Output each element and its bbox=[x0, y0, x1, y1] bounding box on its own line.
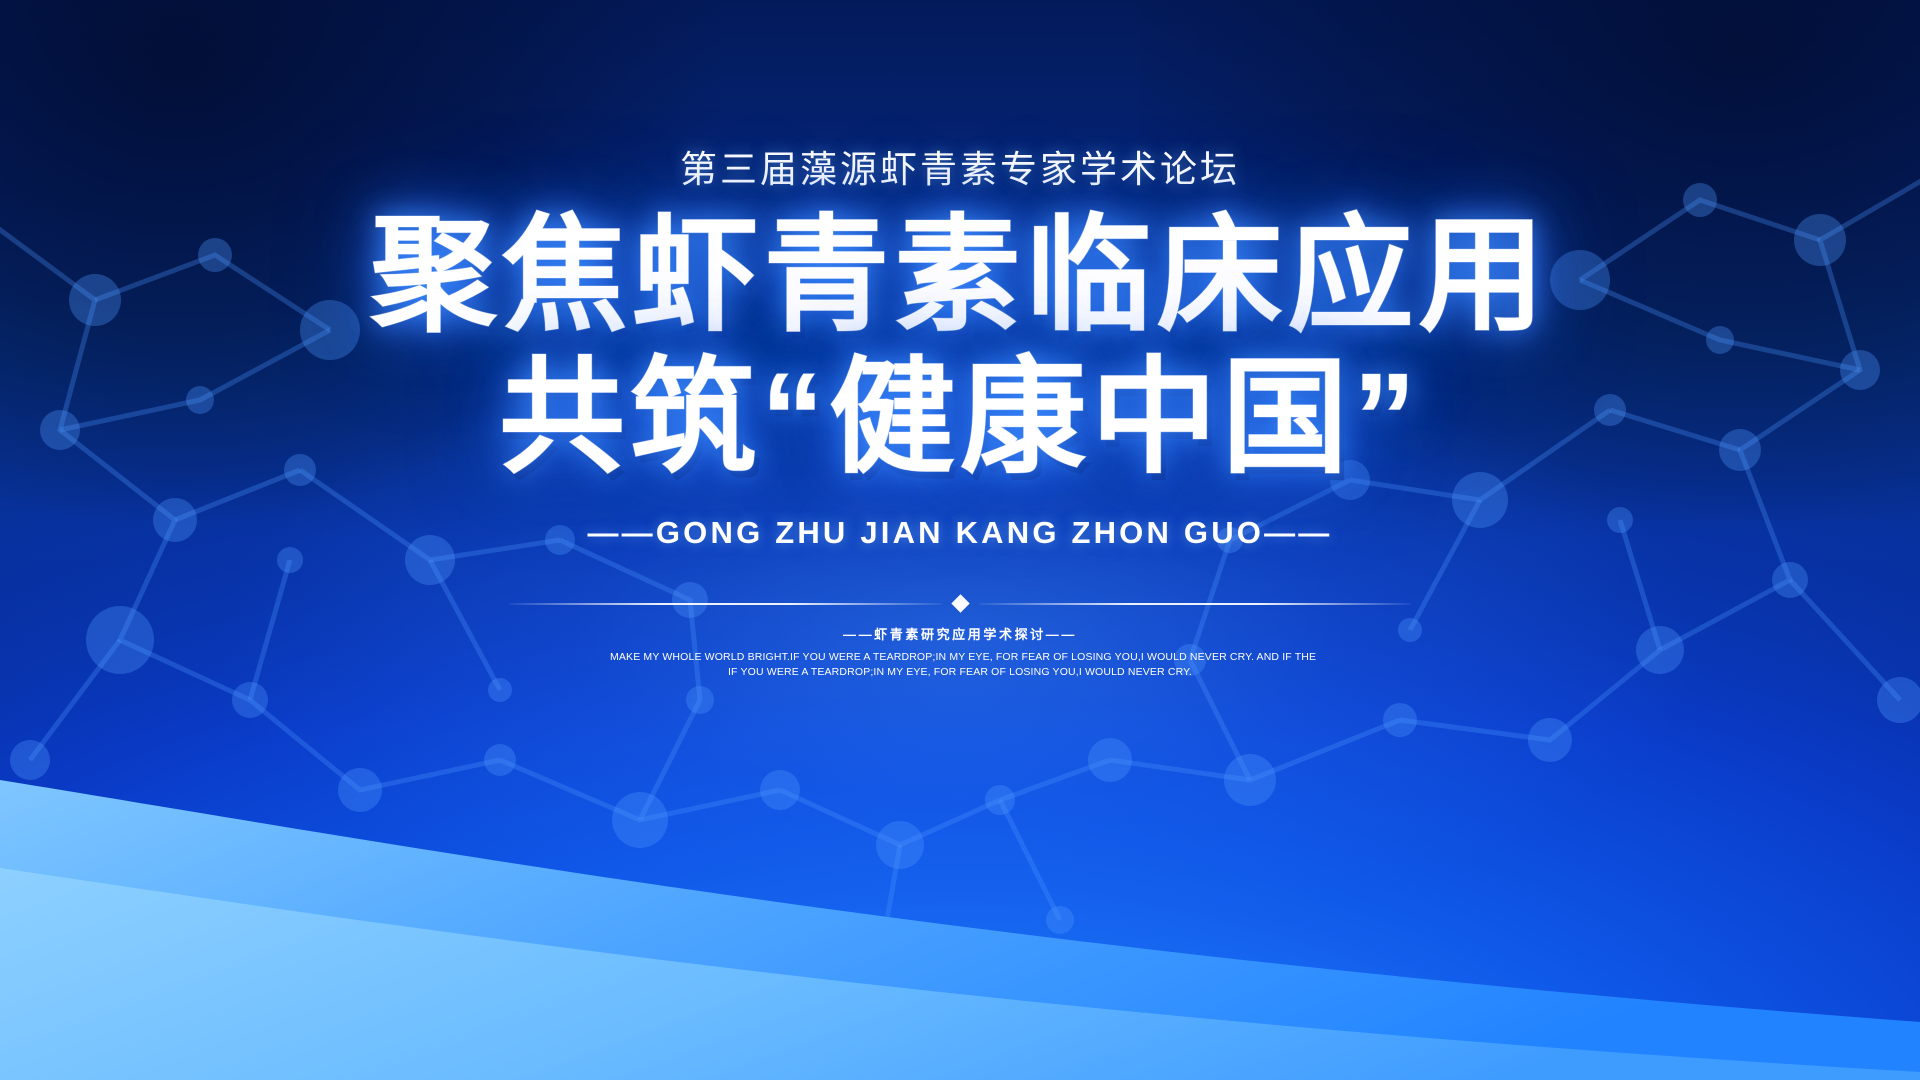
diamond-icon bbox=[951, 594, 969, 612]
topic-tag: ——虾青素研究应用学术探讨—— bbox=[843, 624, 1077, 643]
divider-rule-left bbox=[509, 603, 942, 605]
divider-rule-right bbox=[979, 603, 1412, 605]
pinyin-subtitle: ——GONG ZHU JIAN KANG ZHON GUO—— bbox=[587, 515, 1332, 551]
event-subtitle: 第三届藻源虾青素专家学术论坛 bbox=[680, 139, 1240, 193]
fineprint-line-2: IF YOU WERE A TEARDROP;IN MY EYE, FOR FE… bbox=[610, 665, 1310, 680]
conference-banner: 第三届藻源虾青素专家学术论坛 聚焦虾青素临床应用 共筑“健康中国” ——GONG… bbox=[0, 0, 1920, 1080]
fineprint: MAKE MY WHOLE WORLD BRIGHT.IF YOU WERE A… bbox=[610, 650, 1310, 680]
title-line-1: 聚焦虾青素临床应用 bbox=[371, 213, 1550, 339]
fineprint-line-1: MAKE MY WHOLE WORLD BRIGHT.IF YOU WERE A… bbox=[610, 650, 1310, 665]
banner-content: 第三届藻源虾青素专家学术论坛 聚焦虾青素临床应用 共筑“健康中国” ——GONG… bbox=[0, 0, 1920, 1080]
divider bbox=[509, 597, 1411, 610]
title-line-2: 共筑“健康中国” bbox=[371, 355, 1550, 481]
main-title: 聚焦虾青素临床应用 共筑“健康中国” bbox=[371, 213, 1550, 481]
